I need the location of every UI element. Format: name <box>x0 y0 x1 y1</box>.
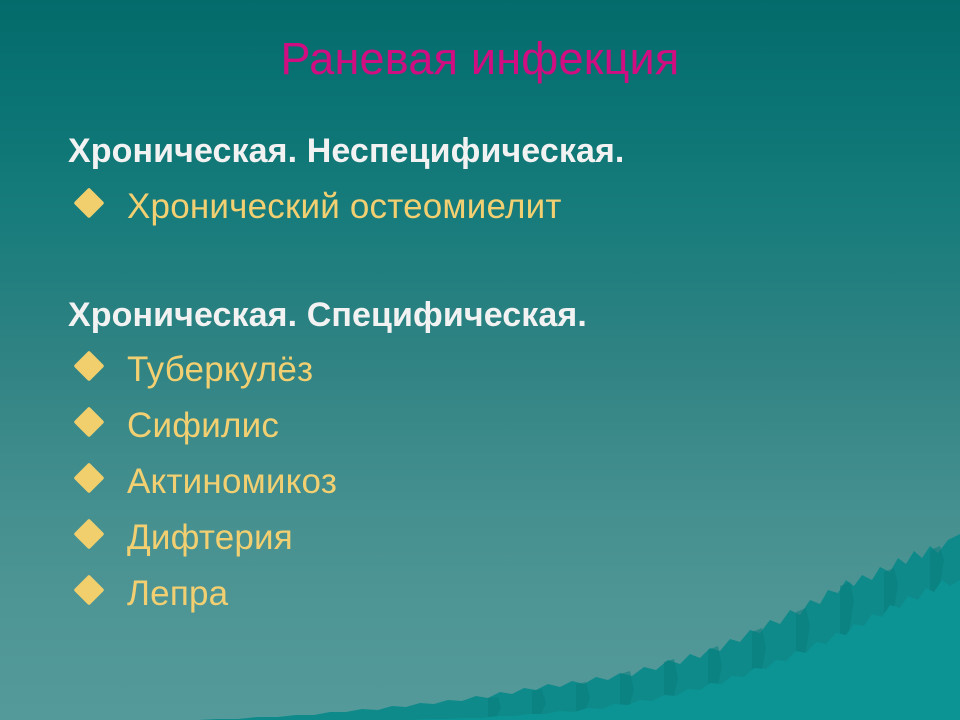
diamond-bullet-icon <box>73 518 104 549</box>
content-section-2: Хроническая. Специфическая. Туберкулёз С… <box>68 292 928 622</box>
section-heading-1: Хроническая. Неспецифическая. <box>68 128 928 174</box>
diamond-bullet-icon <box>73 187 104 218</box>
list-item-label: Сифилис <box>127 398 279 454</box>
section-spacer <box>68 236 928 292</box>
content-section-1: Хроническая. Неспецифическая. Хронически… <box>68 128 928 236</box>
list-item: Дифтерия <box>68 510 928 566</box>
list-item: Хронический остеомиелит <box>68 178 928 236</box>
presentation-slide: Раневая инфекция Хроническая. Неспецифич… <box>0 0 960 720</box>
diamond-bullet-icon <box>73 406 104 437</box>
slide-title: Раневая инфекция <box>0 33 960 85</box>
list-item-label: Туберкулёз <box>127 342 313 398</box>
list-item: Лепра <box>68 566 928 622</box>
list-item-label: Лепра <box>127 566 228 622</box>
section-heading-2: Хроническая. Специфическая. <box>68 292 928 338</box>
slide-content: Хроническая. Неспецифическая. Хронически… <box>68 128 928 622</box>
list-item: Туберкулёз <box>68 342 928 398</box>
list-item: Актиномикоз <box>68 454 928 510</box>
diamond-bullet-icon <box>73 462 104 493</box>
diamond-bullet-icon <box>73 350 104 381</box>
diamond-bullet-icon <box>73 574 104 605</box>
list-item-label: Актиномикоз <box>127 454 337 510</box>
list-item-label: Дифтерия <box>127 510 293 566</box>
list-item: Сифилис <box>68 398 928 454</box>
list-item-label: Хронический остеомиелит <box>127 178 562 236</box>
